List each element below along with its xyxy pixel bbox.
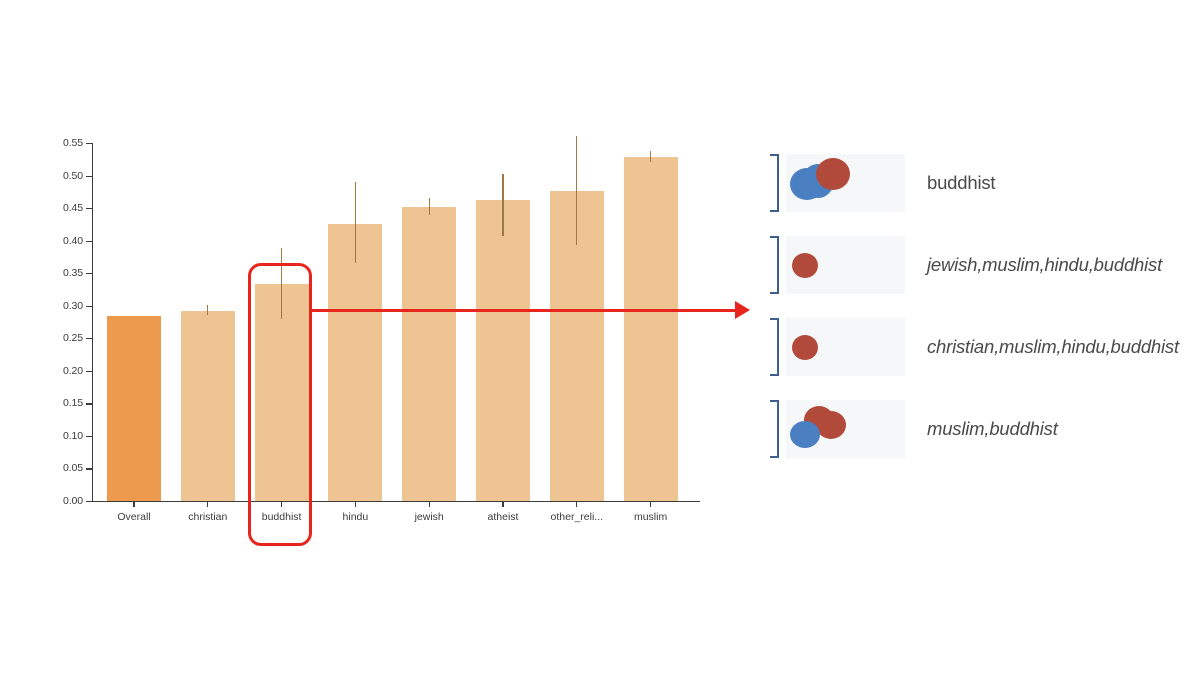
result-label: christian,muslim,hindu,buddhist	[927, 336, 1179, 358]
highlight-box-buddhist	[248, 263, 312, 546]
y-tick-label: 0.15	[63, 397, 83, 409]
bar-chart-panel: 0.000.050.100.150.200.250.300.350.400.45…	[0, 0, 760, 675]
result-label: muslim,buddhist	[927, 418, 1058, 440]
x-tick-label-atheist: atheist	[488, 511, 519, 523]
y-tick	[86, 371, 92, 372]
plot-area: 0.000.050.100.150.200.250.300.350.400.45…	[92, 130, 700, 501]
y-tick	[86, 143, 92, 144]
y-tick-label: 0.55	[63, 137, 83, 149]
y-tick-label: 0.25	[63, 332, 83, 344]
bar-hindu[interactable]	[328, 224, 382, 501]
result-row[interactable]: buddhist	[770, 150, 1200, 216]
results-panel: buddhistjewish,muslim,hindu,buddhistchri…	[770, 150, 1200, 490]
y-tick-label: 0.00	[63, 495, 83, 507]
bracket-icon	[770, 318, 783, 376]
x-tick	[576, 501, 577, 507]
error-bar-other-reli-	[576, 136, 577, 245]
y-tick-label: 0.50	[63, 170, 83, 182]
red-blob-icon	[792, 335, 818, 360]
y-tick	[86, 208, 92, 209]
x-tick	[650, 501, 651, 507]
segmentation-thumbnail-icon[interactable]	[786, 400, 905, 458]
callout-arrow-line	[310, 309, 740, 312]
bar-christian[interactable]	[181, 311, 235, 501]
y-tick-label: 0.45	[63, 202, 83, 214]
segmentation-thumbnail-icon[interactable]	[786, 154, 905, 212]
y-tick-label: 0.20	[63, 365, 83, 377]
x-tick	[133, 501, 134, 507]
bracket-icon	[770, 154, 783, 212]
x-tick-label-muslim: muslim	[634, 511, 667, 523]
x-tick-label-hindu: hindu	[343, 511, 369, 523]
y-axis-line	[92, 143, 93, 501]
y-tick	[86, 176, 92, 177]
y-tick-label: 0.40	[63, 235, 83, 247]
bar-jewish[interactable]	[402, 207, 456, 501]
red-blob-icon	[816, 411, 846, 439]
red-blob-icon	[816, 158, 850, 190]
bar-overall[interactable]	[107, 316, 161, 501]
y-tick	[86, 306, 92, 307]
error-bar-atheist	[502, 174, 503, 236]
segmentation-thumbnail-icon[interactable]	[786, 236, 905, 294]
blue-blob-icon	[790, 421, 820, 448]
x-tick-label-overall: Overall	[117, 511, 150, 523]
x-tick	[355, 501, 356, 507]
result-label: buddhist	[927, 172, 995, 194]
error-bar-jewish	[429, 198, 430, 215]
bar-atheist[interactable]	[476, 200, 530, 501]
x-tick	[207, 501, 208, 507]
x-tick	[429, 501, 430, 507]
red-blob-icon	[792, 253, 818, 278]
y-tick	[86, 273, 92, 274]
error-bar-christian	[207, 305, 208, 315]
x-axis-line	[92, 501, 700, 502]
bar-muslim[interactable]	[624, 157, 678, 501]
bracket-icon	[770, 236, 783, 294]
y-tick-label: 0.05	[63, 462, 83, 474]
y-tick	[86, 241, 92, 242]
y-tick	[86, 501, 92, 502]
callout-arrow-head-icon	[735, 301, 750, 319]
y-tick-label: 0.10	[63, 430, 83, 442]
y-tick-label: 0.35	[63, 267, 83, 279]
x-tick	[502, 501, 503, 507]
y-tick	[86, 403, 92, 404]
error-bar-hindu	[355, 182, 356, 263]
x-tick-label-christian: christian	[188, 511, 227, 523]
segmentation-thumbnail-icon[interactable]	[786, 318, 905, 376]
x-tick-label-other-reli-: other_reli...	[551, 511, 604, 523]
result-label: jewish,muslim,hindu,buddhist	[927, 254, 1162, 276]
result-row[interactable]: jewish,muslim,hindu,buddhist	[770, 232, 1200, 298]
x-tick-label-jewish: jewish	[415, 511, 444, 523]
bracket-icon	[770, 400, 783, 458]
y-tick	[86, 468, 92, 469]
y-tick-label: 0.30	[63, 300, 83, 312]
error-bar-muslim	[650, 151, 651, 162]
result-row[interactable]: muslim,buddhist	[770, 396, 1200, 462]
y-tick	[86, 436, 92, 437]
y-tick	[86, 338, 92, 339]
result-row[interactable]: christian,muslim,hindu,buddhist	[770, 314, 1200, 380]
